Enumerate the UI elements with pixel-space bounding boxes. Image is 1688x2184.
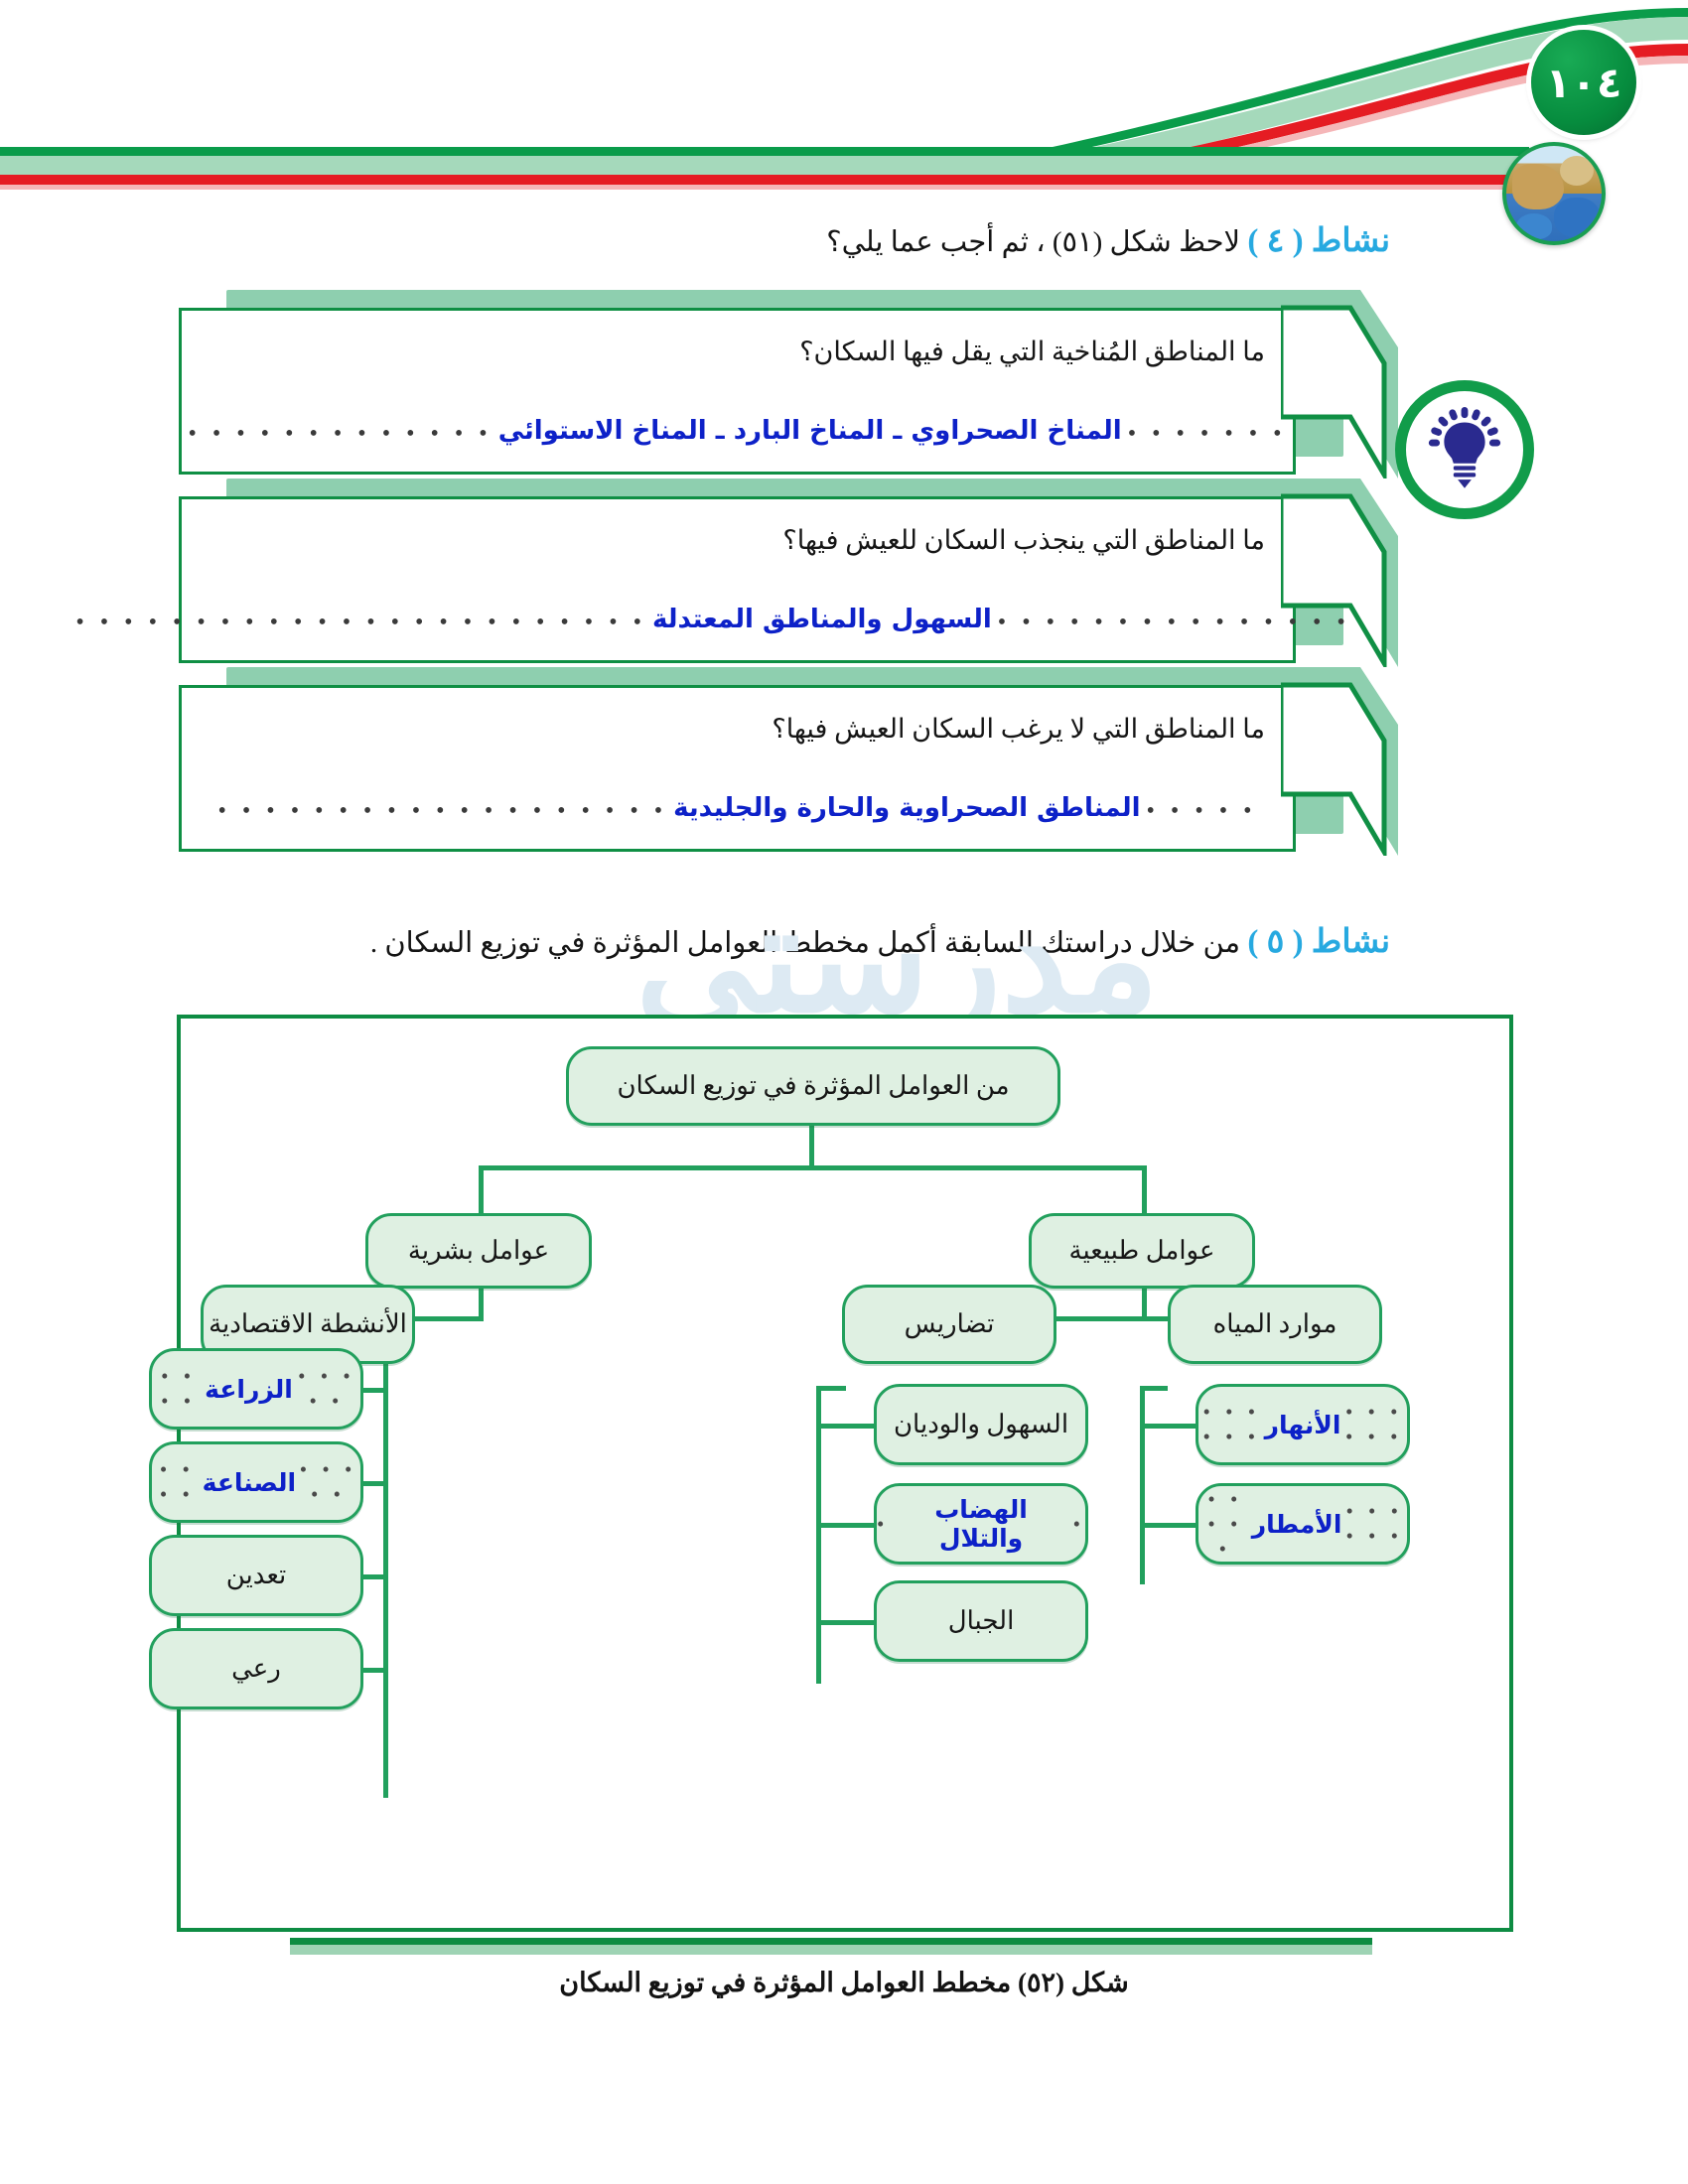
answer-text: المناخ الصحراوي ـ المناخ البارد ـ المناخ… xyxy=(492,416,1128,446)
textbook-page: ١٠٤ نشاط ( ٤ ) لاحظ شكل (٥١) ، ثم أجب عم… xyxy=(0,0,1688,2184)
banner-red-glow-line xyxy=(0,185,1519,190)
question-text: ما المناطق المُناخية التي يقل فيها السكا… xyxy=(241,337,1265,367)
leaf-label: السهول والوديان xyxy=(894,1410,1068,1439)
activity-5-tag: نشاط ( ٥ ) xyxy=(1247,924,1390,960)
connector-landform-leaf-3 xyxy=(816,1620,876,1625)
question-text: ما المناطق التي لا يرغب السكان العيش فيه… xyxy=(241,714,1265,745)
card-1-wedge xyxy=(1281,290,1400,478)
answer-text: السهول والمناطق المعتدلة xyxy=(646,605,998,634)
leaf-dots-before: • • • • • xyxy=(296,1457,360,1507)
leaf-dots-after: • • • • • xyxy=(1198,1487,1252,1562)
leaf-dots-after: • xyxy=(877,1512,889,1537)
connector-water-top xyxy=(1140,1386,1168,1391)
answer-dots-right: • • • • • xyxy=(1147,799,1257,823)
activity-5-instruction: من خلال دراستك السابقة أكمل مخطط العوامل… xyxy=(370,927,1240,959)
activity-4-tag: نشاط ( ٤ ) xyxy=(1247,223,1390,259)
banner-green-line xyxy=(0,147,1529,156)
connector-to-human xyxy=(479,1165,484,1213)
leaf-dots-after: • • • • xyxy=(152,1364,205,1414)
answer-text: المناطق الصحراوية والحارة والجليدية xyxy=(667,793,1146,823)
answer-line[interactable]: • • • • • • • • • • • • • • • • • السهول… xyxy=(210,595,1265,634)
activity-4-instruction: لاحظ شكل (٥١) ، ثم أجب عما يلي؟ xyxy=(826,226,1240,258)
diagram-leaf-mining: تعدين xyxy=(149,1535,363,1616)
lightbulb-icon xyxy=(1395,380,1534,519)
connector-root-horizontal xyxy=(479,1165,1147,1170)
activity-4-heading: نشاط ( ٤ ) لاحظ شكل (٥١) ، ثم أجب عما يل… xyxy=(278,220,1390,260)
lightbulb-glyph xyxy=(1422,407,1507,492)
connector-to-natural xyxy=(1142,1165,1147,1213)
diagram-node-landforms: تضاريس xyxy=(842,1285,1056,1364)
card-3-wedge xyxy=(1281,667,1400,856)
leaf-label: الهضاب والتلال xyxy=(889,1495,1072,1553)
node-label: عوامل بشرية xyxy=(408,1236,549,1266)
diagram-node-root: من العوامل المؤثرة في توزيع السكان xyxy=(566,1046,1060,1126)
question-card-1: ما المناطق المُناخية التي يقل فيها السكا… xyxy=(179,308,1296,475)
caption-rule-light xyxy=(290,1945,1372,1955)
leaf-label: الأمطار xyxy=(1252,1510,1342,1539)
leaf-label: الجبال xyxy=(948,1606,1015,1636)
diagram-leaf-plateaus-hills[interactable]: • الهضاب والتلال • xyxy=(874,1483,1088,1565)
diagram-leaf-industry[interactable]: • • • • • الصناعة • • • • xyxy=(149,1441,363,1523)
card-body: ما المناطق المُناخية التي يقل فيها السكا… xyxy=(179,308,1296,475)
question-card-2: ما المناطق التي ينجذب السكان للعيش فيها؟… xyxy=(179,496,1296,663)
diagram-leaf-rivers[interactable]: • • • • • • الأنهار • • • • • • xyxy=(1196,1384,1410,1465)
diagram-frame: من العوامل المؤثرة في توزيع السكان عوامل… xyxy=(177,1015,1513,1932)
node-label: عوامل طبيعية xyxy=(1069,1236,1215,1266)
node-label: من العوامل المؤثرة في توزيع السكان xyxy=(617,1071,1009,1101)
card-body: ما المناطق التي ينجذب السكان للعيش فيها؟… xyxy=(179,496,1296,663)
node-label: تضاريس xyxy=(905,1309,995,1339)
connector-water-spine xyxy=(1140,1386,1145,1584)
leaf-dots-before: • • • • • • xyxy=(1340,1400,1407,1449)
connector-water-leaf-2 xyxy=(1140,1523,1197,1528)
leaf-label: تعدين xyxy=(226,1561,286,1590)
card-body: ما المناطق التي لا يرغب السكان العيش فيه… xyxy=(179,685,1296,852)
answer-line[interactable]: • • • • • المناطق الصحراوية والحارة والج… xyxy=(210,783,1265,823)
answer-dots-left: • • • • • • • • • • • • • • • • • • • xyxy=(217,799,667,823)
leaf-dots-after: • • • • • • xyxy=(1198,1400,1265,1449)
answer-dots-right: • • • • • • • xyxy=(1128,422,1287,446)
page-header-banner xyxy=(0,0,1688,199)
question-text: ما المناطق التي ينجذب السكان للعيش فيها؟ xyxy=(241,525,1265,556)
leaf-dots-before: • • • • • xyxy=(293,1364,360,1414)
banner-red-line xyxy=(0,175,1519,185)
connector-landform-spine xyxy=(816,1386,821,1684)
caption-rule-dark xyxy=(290,1938,1372,1945)
connector-root-down xyxy=(809,1126,814,1165)
diagram-leaf-agriculture[interactable]: • • • • • الزراعة • • • • xyxy=(149,1348,363,1430)
activity-5-heading: نشاط ( ٥ ) من خلال دراستك السابقة أكمل م… xyxy=(278,921,1390,961)
page-number: ١٠٤ xyxy=(1531,30,1636,135)
diagram-leaf-plains-valleys: السهول والوديان xyxy=(874,1384,1088,1465)
connector-water-leaf-1 xyxy=(1140,1424,1197,1429)
leaf-dots-after: • • • • xyxy=(152,1457,203,1507)
globe-icon xyxy=(1502,142,1606,245)
leaf-dots-before: • xyxy=(1073,1512,1085,1537)
answer-line[interactable]: • • • • • • • المناخ الصحراوي ـ المناخ ا… xyxy=(210,406,1265,446)
answer-dots-left: • • • • • • • • • • • • • xyxy=(188,422,492,446)
card-2-wedge xyxy=(1281,478,1400,667)
leaf-label: الصناعة xyxy=(203,1468,296,1497)
diagram-node-natural-factors: عوامل طبيعية xyxy=(1029,1213,1255,1289)
leaf-label: الأنهار xyxy=(1265,1411,1341,1439)
figure-caption: شكل (٥٢) مخطط العوامل المؤثرة في توزيع ا… xyxy=(0,1968,1688,1998)
diagram-leaf-grazing: رعي xyxy=(149,1628,363,1709)
diagram-leaf-mountains: الجبال xyxy=(874,1580,1088,1662)
leaf-label: الزراعة xyxy=(205,1375,293,1404)
diagram-leaf-rainfall[interactable]: • • • • • • الأمطار • • • • • xyxy=(1196,1483,1410,1565)
connector-landform-leaf-1 xyxy=(816,1424,876,1429)
connector-landform-leaf-2 xyxy=(816,1523,876,1528)
node-label: موارد المياه xyxy=(1213,1309,1337,1339)
leaf-dots-before: • • • • • • xyxy=(1341,1499,1407,1549)
answer-dots-left: • • • • • • • • • • • • • • • • • • • • … xyxy=(75,611,646,634)
leaf-label: رعي xyxy=(231,1654,281,1684)
diagram-node-water-resources: موارد المياه xyxy=(1168,1285,1382,1364)
node-label: الأنشطة الاقتصادية xyxy=(209,1309,407,1339)
connector-landform-top xyxy=(816,1386,846,1391)
diagram-node-human-factors: عوامل بشرية xyxy=(365,1213,592,1289)
question-card-3: ما المناطق التي لا يرغب السكان العيش فيه… xyxy=(179,685,1296,852)
